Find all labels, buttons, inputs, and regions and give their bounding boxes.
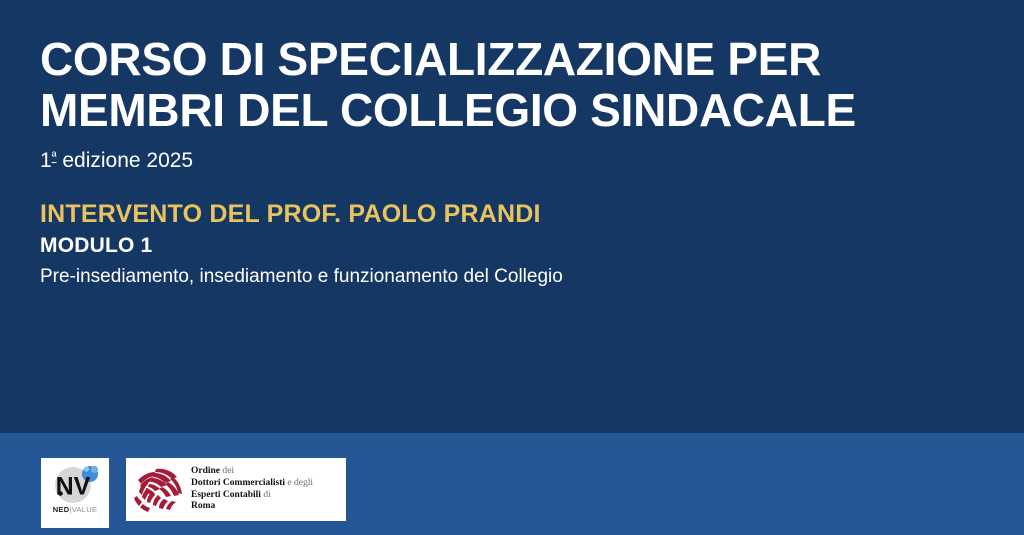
odcec-line-2: Dottori Commercialisti e degli [191,478,313,490]
logo-ned-value: NV NED|VALUE [41,458,109,528]
globe-icon [134,466,182,513]
odcec-line-4: Roma [191,501,313,513]
odcec-line-3: Esperti Contabili di [191,490,313,502]
ned-value-name-bold: NED [53,505,70,514]
svg-text:NV: NV [56,473,91,501]
ned-value-mark-icon: NV [49,465,101,505]
odcec-line-4-bold: Roma [191,501,215,511]
odcec-line-1-light: dei [220,466,234,476]
logo-row: NV NED|VALUE [41,458,346,528]
odcec-line-1-bold: Ordine [191,466,220,476]
module-description: Pre-insediamento, insediamento e funzion… [40,266,940,288]
edition-rest: edizione 2025 [57,149,194,172]
odcec-line-3-bold: Esperti Contabili [191,490,261,500]
odcec-line-1: Ordine dei [191,466,313,478]
speaker-heading: INTERVENTO DEL PROF. PAOLO PRANDI [40,200,940,228]
odcec-line-3-light: di [261,490,271,500]
edition-number: 1 [40,149,52,172]
module-heading: MODULO 1 [40,234,940,258]
ned-value-wordmark: NED|VALUE [41,505,109,514]
page-title-line-1: CORSO DI SPECIALIZZAZIONE PER [40,36,940,82]
page-title-line-2: MEMBRI DEL COLLEGIO SINDACALE [40,87,940,133]
edition-label: 1ª edizione 2025 [40,145,940,173]
odcec-wordmark: Ordine dei Dottori Commercialisti e degl… [191,466,313,512]
slide-text-block: CORSO DI SPECIALIZZAZIONE PER MEMBRI DEL… [40,36,940,288]
ned-value-name-light: VALUE [72,505,98,514]
slide-canvas: CORSO DI SPECIALIZZAZIONE PER MEMBRI DEL… [0,0,1024,535]
odcec-line-2-bold: Dottori Commercialisti [191,478,285,488]
logo-odcec-roma: Ordine dei Dottori Commercialisti e degl… [126,458,346,521]
odcec-line-2-light: e degli [285,478,313,488]
